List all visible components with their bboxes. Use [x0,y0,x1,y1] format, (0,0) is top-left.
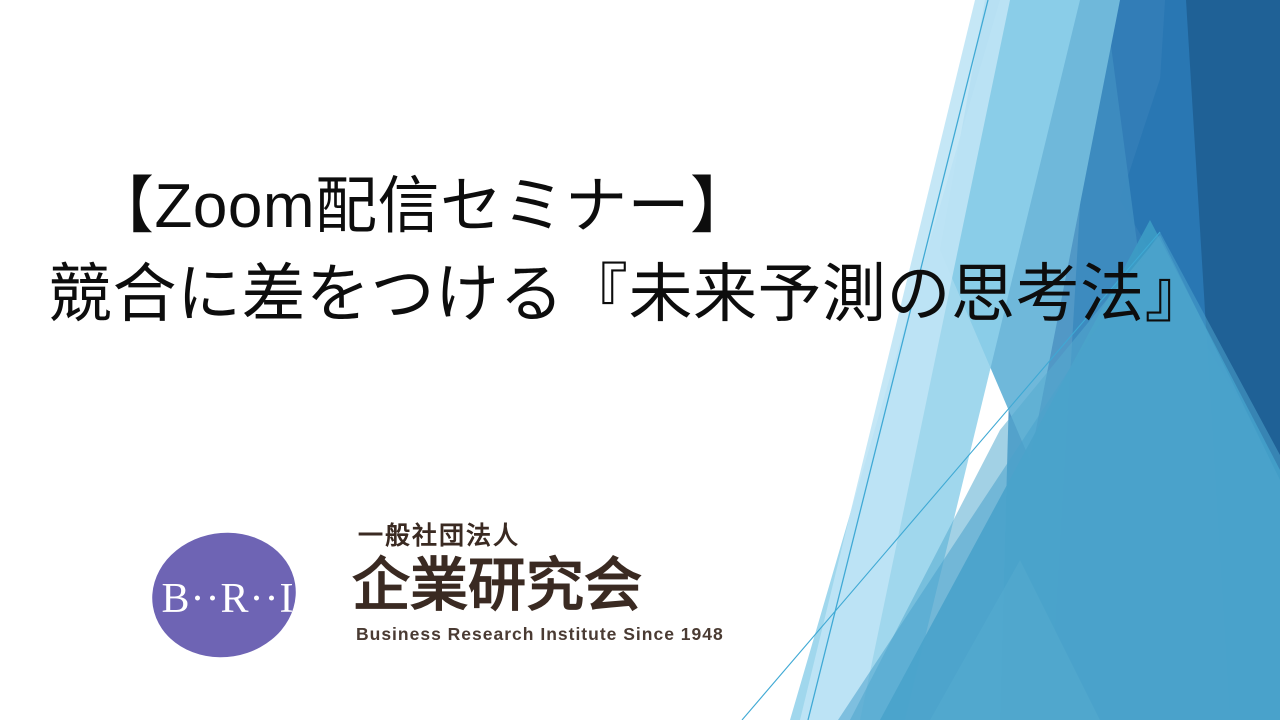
logo-org-name: 企業研究会 [352,557,712,615]
facet-shape-light-sweep [790,0,1080,720]
facet-shape-dark-right [1120,0,1280,720]
logo-tagline: Business Research Institute Since 1948 [352,624,712,645]
facet-hairline-steep [808,0,988,720]
title-line-2: 競合に差をつける『未来予測の思考法』 [0,262,1260,326]
logo-text-group: 一般社団法人 企業研究会 Business Research Institute… [352,524,712,666]
facet-shape-bottom-accent [930,560,1100,720]
organization-logo: B··R··I 一般社団法人 企業研究会 Business Research I… [152,524,712,674]
logo-org-type: 一般社団法人 [352,524,712,549]
facet-shape-deep-band [1050,0,1230,720]
logo-mark-text: B··R··I [162,576,295,622]
facet-shape-steel-band [1000,0,1200,720]
title-line-1: 【Zoom配信セミナー】 [0,176,1260,238]
facet-shape-pale-sliver [800,0,1010,720]
slide-canvas: 【Zoom配信セミナー】 競合に差をつける『未来予測の思考法』 B··R··I … [0,0,1280,720]
bri-ellipse-mark: B··R··I [152,524,324,666]
title-block: 【Zoom配信セミナー】 競合に差をつける『未来予測の思考法』 [0,176,1260,326]
